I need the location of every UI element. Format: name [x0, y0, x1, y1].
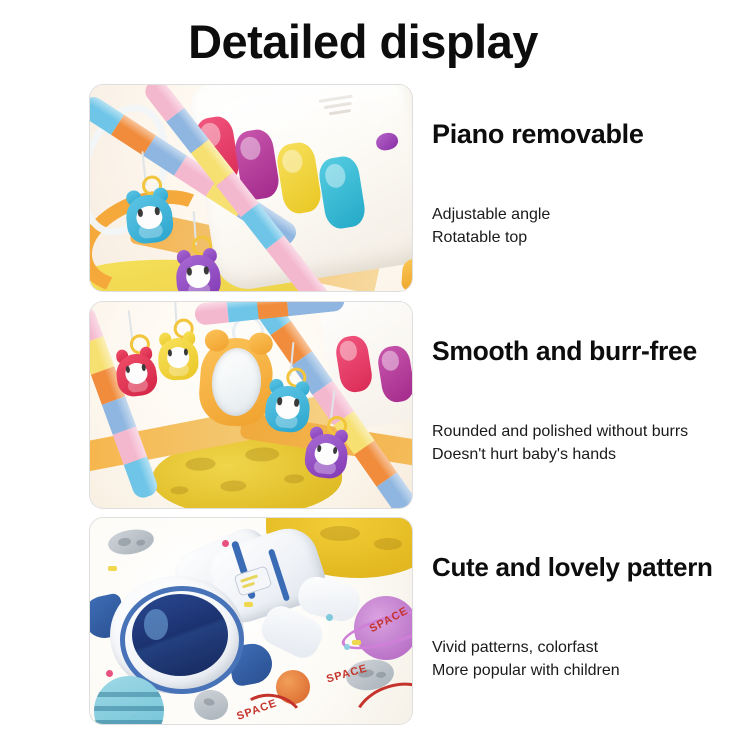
star-dot [106, 670, 113, 677]
bear-rattle-red[interactable] [113, 342, 159, 398]
star-dot [244, 602, 253, 607]
bear-rattle-purple[interactable] [174, 244, 222, 291]
product-photo-smooth-and-burr-free[interactable] [90, 302, 412, 508]
bear-rattle-blue[interactable] [264, 374, 313, 434]
feature-heading: Cute and lovely pattern [432, 552, 713, 583]
feature-row-piano-removable: Piano removable Adjustable angle Rotatab… [0, 85, 750, 291]
bear-rattle-yellow[interactable] [157, 327, 200, 381]
feature-body-line: Rounded and polished without burrs [432, 420, 688, 443]
astronaut-visor [132, 594, 228, 676]
star-dot [344, 644, 350, 650]
feature-body: Rounded and polished without burrs Doesn… [432, 420, 688, 466]
feature-body-line: Adjustable angle [432, 203, 550, 226]
feature-row-cute-and-lovely-pattern: SPACE SPACE SPACE Cute and lovely patter… [0, 518, 750, 724]
feature-text-cute-and-lovely-pattern: Cute and lovely pattern Vivid patterns, … [430, 518, 750, 724]
feature-body-line: Rotatable top [432, 226, 550, 249]
feature-body-line: Vivid patterns, colorfast [432, 636, 620, 659]
feature-row-smooth-and-burr-free: Smooth and burr-free Rounded and polishe… [0, 302, 750, 508]
feature-heading: Piano removable [432, 119, 644, 150]
product-photo-piano-removable[interactable] [90, 85, 412, 291]
feature-heading: Smooth and burr-free [432, 336, 697, 367]
feature-body: Adjustable angle Rotatable top [432, 203, 550, 249]
star-dot [132, 714, 138, 720]
star-dot [222, 540, 229, 547]
bear-rattle-purple[interactable] [303, 422, 351, 481]
star-dot [352, 640, 361, 645]
bear-rattle-blue[interactable] [123, 183, 175, 245]
feature-text-piano-removable: Piano removable Adjustable angle Rotatab… [430, 85, 750, 291]
page-title: Detailed display [0, 14, 738, 69]
star-dot [326, 614, 333, 621]
feature-text-smooth-and-burr-free: Smooth and burr-free Rounded and polishe… [430, 302, 750, 508]
star-dot [108, 566, 117, 571]
product-photo-space-play-mat[interactable]: SPACE SPACE SPACE [90, 518, 412, 724]
feature-body-line: Doesn't hurt baby's hands [432, 443, 688, 466]
feature-body-line: More popular with children [432, 659, 620, 682]
feature-body: Vivid patterns, colorfast More popular w… [432, 636, 620, 682]
detailed-display-page: Detailed display [0, 0, 750, 750]
